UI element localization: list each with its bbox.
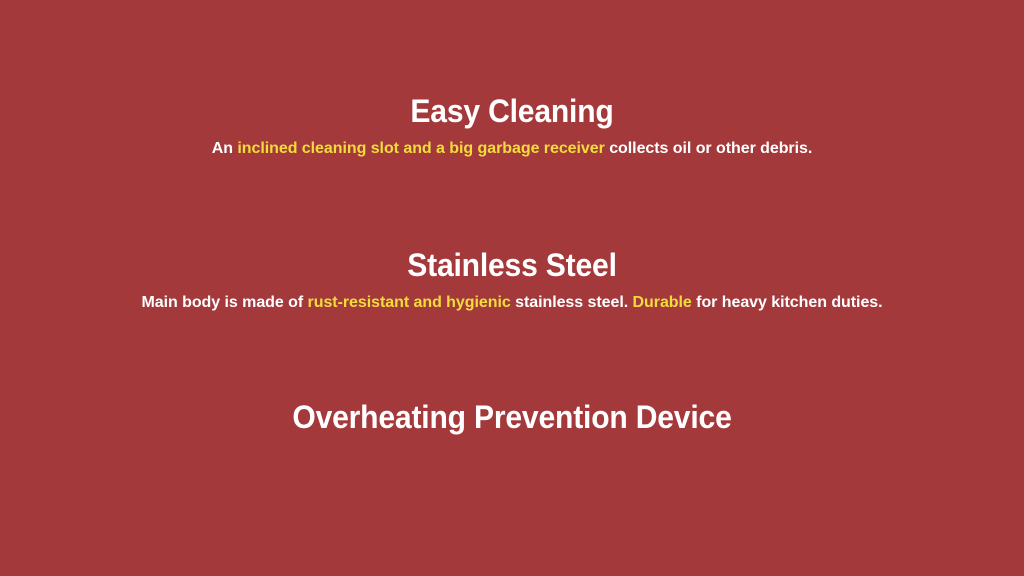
feature-description: Main body is made of rust-resistant and … xyxy=(0,292,1024,314)
body-text: for heavy kitchen duties. xyxy=(692,294,883,311)
feature-heading: Easy Cleaning xyxy=(31,90,994,132)
body-text: Main body is made of xyxy=(141,294,307,311)
feature-block-stainless-steel: Stainless Steel Main body is made of rus… xyxy=(0,244,1024,314)
feature-description: An inclined cleaning slot and a big garb… xyxy=(0,138,1024,160)
highlighted-text: rust-resistant and hygienic xyxy=(308,294,511,311)
feature-block-overheating-prevention: Overheating Prevention Device xyxy=(0,396,1024,438)
feature-block-easy-cleaning: Easy Cleaning An inclined cleaning slot … xyxy=(0,90,1024,160)
highlighted-text: Durable xyxy=(633,294,692,311)
feature-heading: Stainless Steel xyxy=(31,244,994,286)
highlighted-text: inclined cleaning slot and a big garbage… xyxy=(237,140,604,157)
feature-slide: Easy Cleaning An inclined cleaning slot … xyxy=(0,0,1024,576)
body-text: stainless steel. xyxy=(511,294,633,311)
feature-heading: Overheating Prevention Device xyxy=(31,396,994,438)
body-text: An xyxy=(212,140,238,157)
body-text: collects oil or other debris. xyxy=(605,140,812,157)
